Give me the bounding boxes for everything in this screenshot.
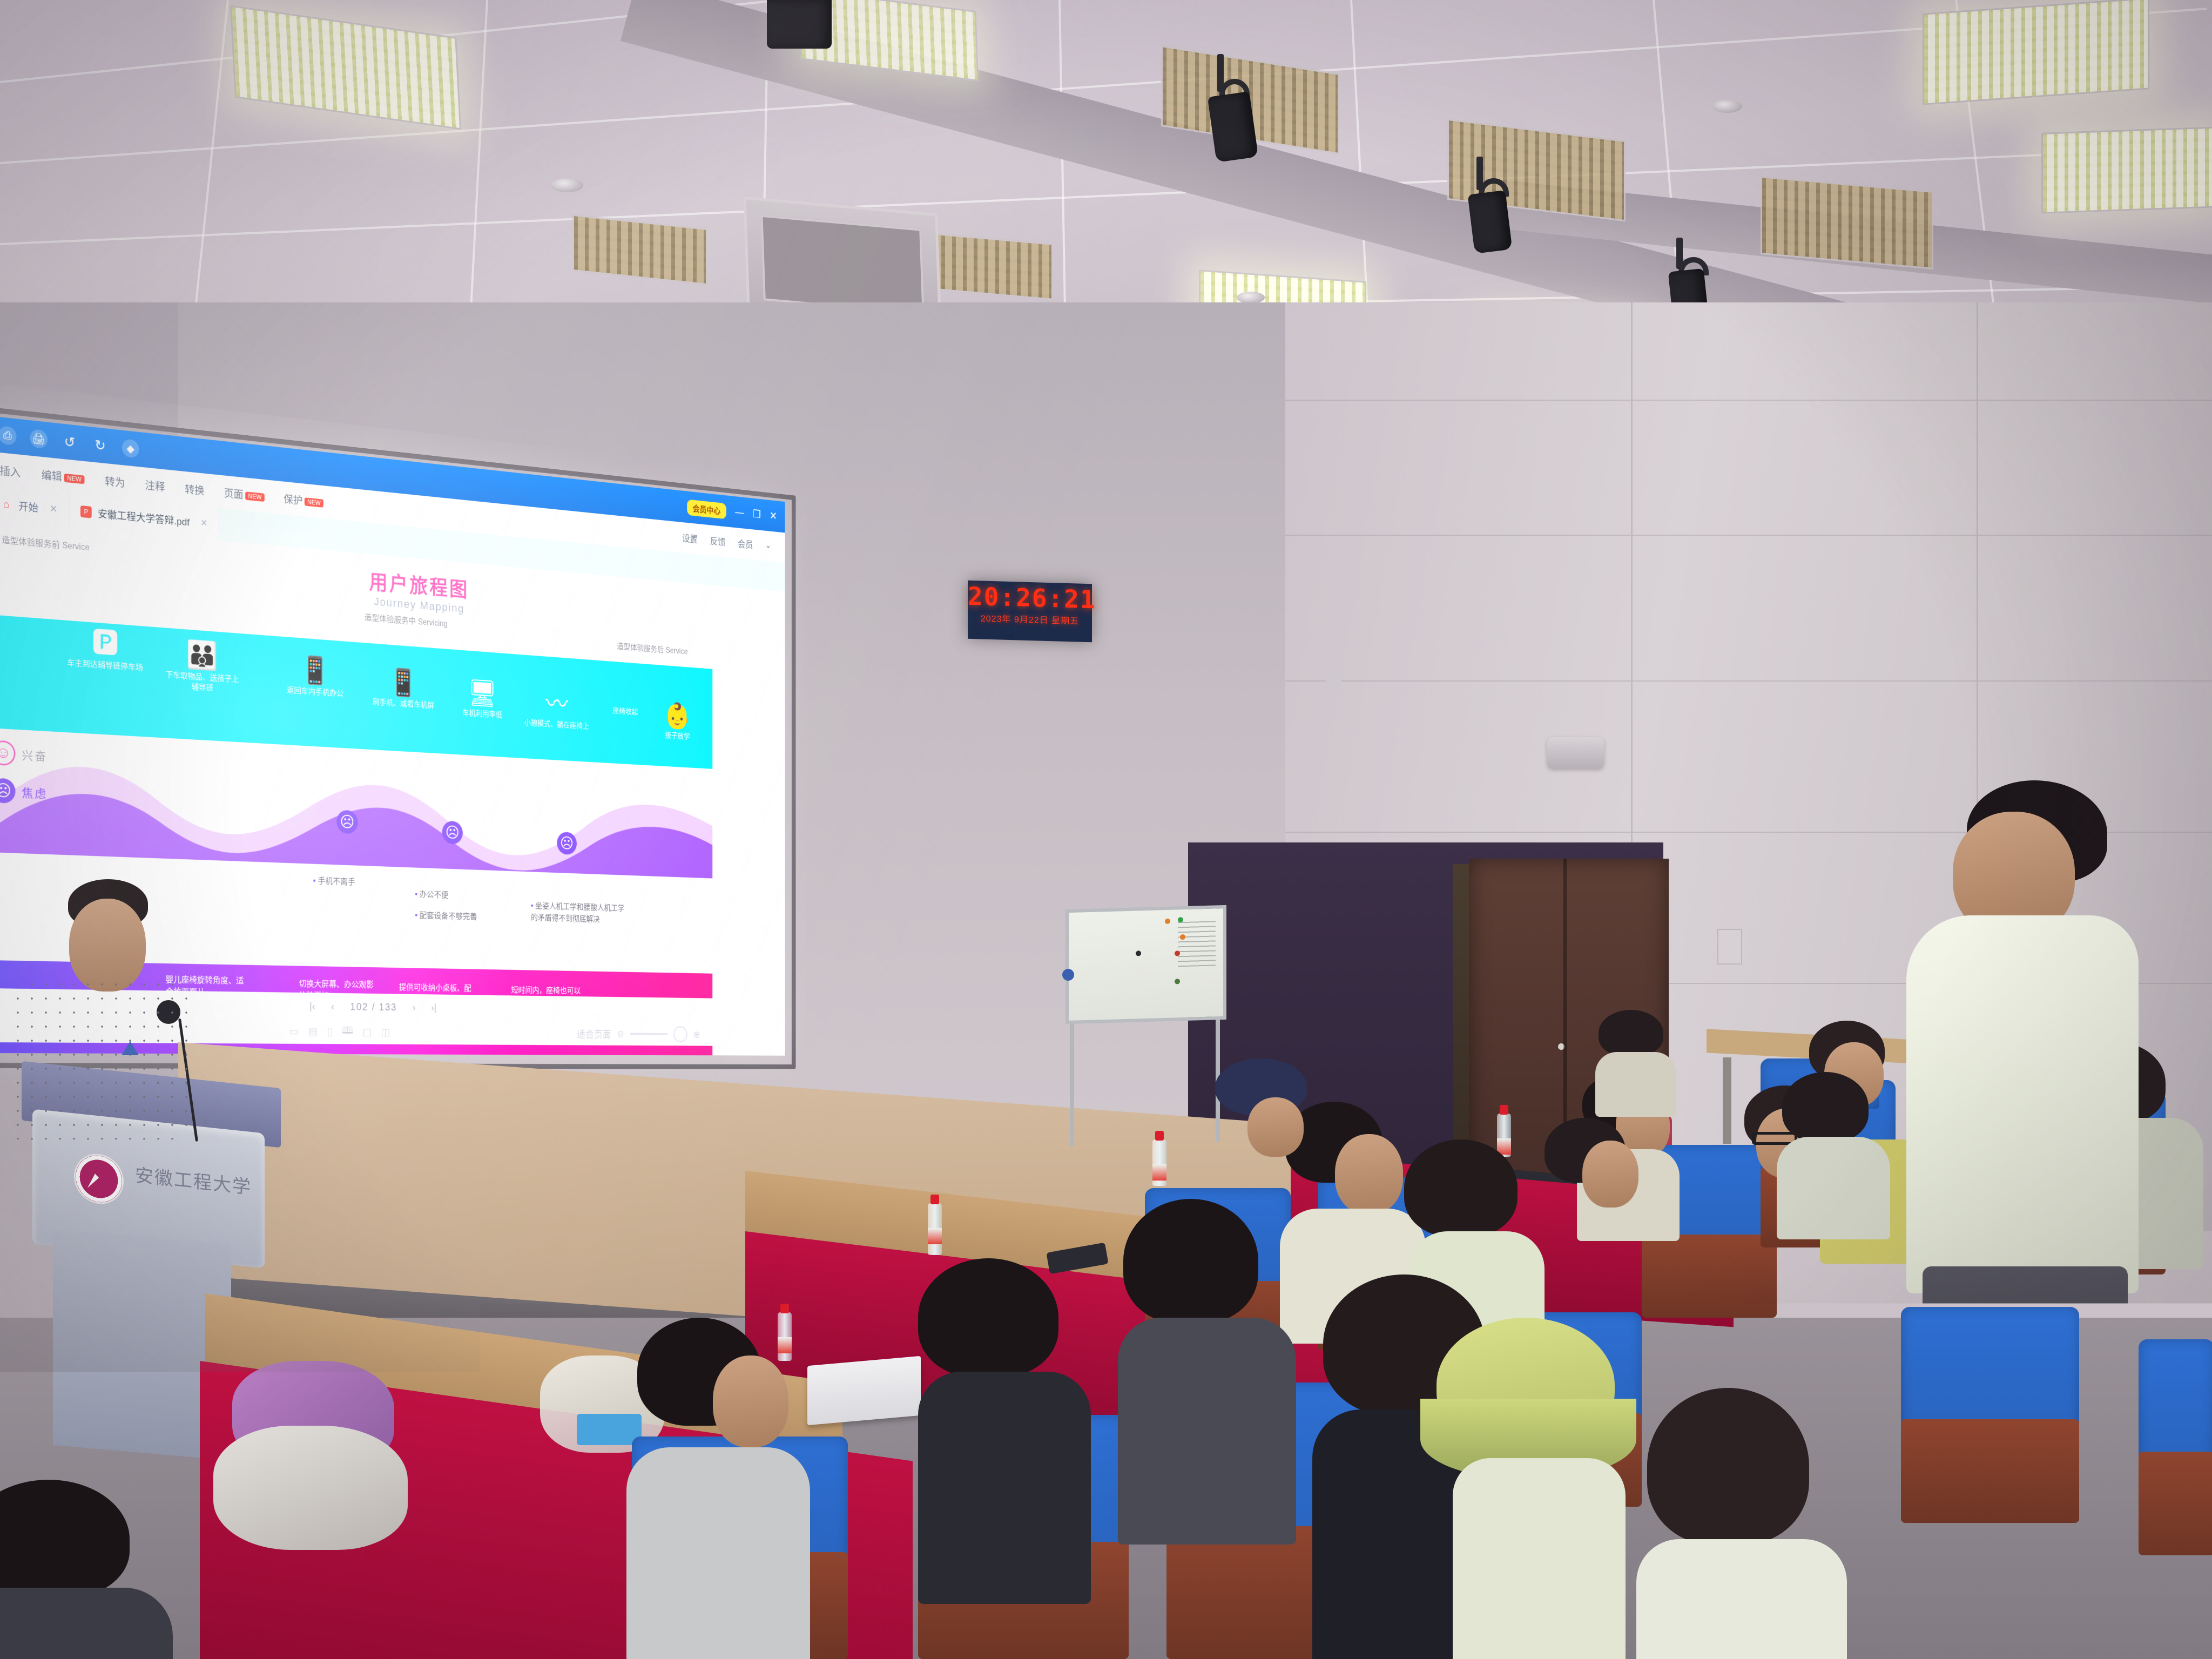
wall-switch-panel[interactable] [1717,929,1742,965]
phone-small-icon: 📱 [369,667,437,698]
water-bottle[interactable] [1152,1139,1166,1186]
pain-point-item: • 办公不便 [415,889,448,902]
tab-home-label: 开始 [18,498,38,515]
water-bottle[interactable] [1497,1114,1511,1157]
whiteboard-writing [1178,917,1216,967]
prev-page-icon[interactable]: ‹ [331,1001,334,1013]
lecture-hall-photo: 20:26:21 2023年 9月22日 星期五 ⎙ 🖨 ↺ ↻ ◆ 会员中心 … [0,0,2212,1659]
phone-icon: 📱 [280,655,350,686]
ribbon-item-page[interactable]: 页面NEW [224,484,265,503]
standing-student-trousers [1923,1266,2128,1445]
parking-icon: 🅿 [67,627,143,660]
print-icon[interactable]: 🖨 [30,429,48,449]
ceiling-light-panel [2041,126,2212,214]
zoom-in-icon[interactable]: ⊕ [693,1028,700,1040]
whiteboard-surface[interactable] [1065,905,1226,1024]
minimize-icon[interactable]: — [735,506,744,520]
wps-logo-icon[interactable]: ◆ [122,439,139,458]
clothing-pile [213,1426,408,1550]
ribbon-feedback[interactable]: 反馈 [710,534,726,549]
zoom-out-icon[interactable]: ⊖ [617,1028,624,1040]
sad-face-marker: ☹ [557,832,577,855]
phase-label-after: 造型体验服务后 Service [617,639,687,657]
page-indicator: 102 / 133 [350,1001,397,1014]
chevron-down-icon[interactable]: ⌄ [765,539,772,553]
ceiling-light-panel [1923,0,2149,105]
last-page-icon[interactable]: ›| [431,1002,436,1014]
journey-step: 📱 返回车内手机办公 [280,655,350,699]
journey-step: 🅿 车主到达辅导班停车场 [67,627,143,673]
ribbon-item-edit[interactable]: 编辑NEW [42,466,85,486]
ceiling-light-panel [1761,176,1933,269]
water-bottle[interactable] [928,1203,942,1255]
journey-step: 〰 小憩模式、躺在座椅上 [524,689,589,731]
view-thumbnail-icon[interactable]: ▢ [362,1026,372,1038]
pain-point-item: • 手机不离手 [313,875,355,889]
view-continuous-icon[interactable]: ▤ [308,1025,318,1038]
undo-icon[interactable]: ↺ [61,432,78,452]
tab-pdf-label: 安徽工程大学答辩.pdf [98,506,190,529]
standing-student-shirt [1906,915,2139,1293]
home-icon: ⌂ [1,498,12,511]
table-leg [1723,1057,1731,1144]
ribbon-member[interactable]: 会员 [738,537,753,551]
phase-label-before: 造型体验服务前 Service [2,532,89,553]
auditorium-chair[interactable] [2139,1339,2212,1555]
whiteboard-magnet[interactable] [1175,979,1180,984]
restore-icon[interactable]: ❐ [753,508,761,521]
redo-icon[interactable]: ↻ [92,435,109,455]
view-split-icon[interactable]: ◫ [381,1026,390,1038]
save-icon[interactable]: ⎙ [0,426,16,446]
slide-title: 用户旅程图 Journey Mapping [369,565,469,616]
close-icon[interactable]: ✕ [770,509,777,522]
clock-date: 2023年 9月22日 星期五 [968,611,1092,627]
emotion-label-high: 兴奋 [22,746,48,764]
smoke-detector [551,178,583,192]
pain-point-item: • 坐姿人机工学和腰酸人机工学的矛盾得不到彻底解决 [531,900,625,926]
whiteboard-magnet[interactable] [1165,919,1170,924]
closed-laptop[interactable] [807,1356,921,1425]
pdf-icon: P [80,505,92,518]
smoke-detector [1237,292,1265,304]
sad-face-marker: ☹ [336,810,358,834]
new-tag: NEW [64,474,85,484]
child-icon: 👶 [646,702,709,731]
whiteboard-magnet[interactable] [1136,950,1141,956]
digital-wall-clock: 20:26:21 2023年 9月22日 星期五 [968,581,1092,642]
parent-child-icon: 👪 [165,639,239,672]
presenter-torso [11,977,189,1139]
monitor-icon: 🖥 [449,678,515,709]
tab-close-icon[interactable]: ✕ [50,503,57,515]
recline-seat-icon: 〰 [524,689,589,719]
tab-close-icon[interactable]: ✕ [200,517,208,529]
view-facing-icon[interactable]: ▯ [327,1026,332,1038]
view-single-page-icon[interactable]: ▭ [289,1025,299,1038]
presenter-shirt-logo [122,1041,139,1055]
journey-step: 👪 下车取物品、送孩子上辅导班 [165,639,239,695]
journey-step: 🖥 车机利用率低 [449,678,515,721]
zoom-knob[interactable] [673,1026,687,1042]
whiteboard[interactable] [1056,903,1234,1065]
ribbon-item-convert[interactable]: 转换 [185,481,204,498]
smoke-detector [1712,100,1742,113]
view-book-icon[interactable]: 🕮 [342,1023,353,1041]
first-page-icon[interactable]: |‹ [309,1001,315,1013]
sad-face-marker: ☹ [442,821,463,845]
zoom-slider[interactable] [630,1033,668,1035]
ribbon-item-convert-to[interactable]: 转为 [105,473,125,490]
phase-label-during: 造型体验服务中 Servicing [365,610,448,629]
journey-step: 👶 接子放学 [646,702,709,743]
new-tag: NEW [305,497,323,508]
pain-point-item: • 配套设备不够完善 [415,910,477,923]
ribbon-item-protect[interactable]: 保护NEW [284,490,323,509]
ribbon-item-insert[interactable]: 插入 [0,462,21,480]
new-tag: NEW [245,491,265,502]
wall-fixture [1326,664,1341,692]
ribbon-settings[interactable]: 设置 [682,531,698,545]
journey-step: 📱 刷手机、或看车机屏 [369,667,437,711]
ribbon-item-annotate[interactable]: 注释 [145,477,165,494]
wall-speaker [1547,737,1604,768]
clock-time: 20:26:21 [968,584,1092,612]
vip-badge[interactable]: 会员中心 [687,499,726,519]
zoom-level-label: 适合页面 [577,1027,611,1041]
water-bottle[interactable] [778,1312,792,1361]
emotion-label-low: 焦虑 [22,784,48,802]
whiteboard-pen-holder[interactable] [1062,969,1074,981]
next-page-icon[interactable]: › [413,1002,416,1013]
